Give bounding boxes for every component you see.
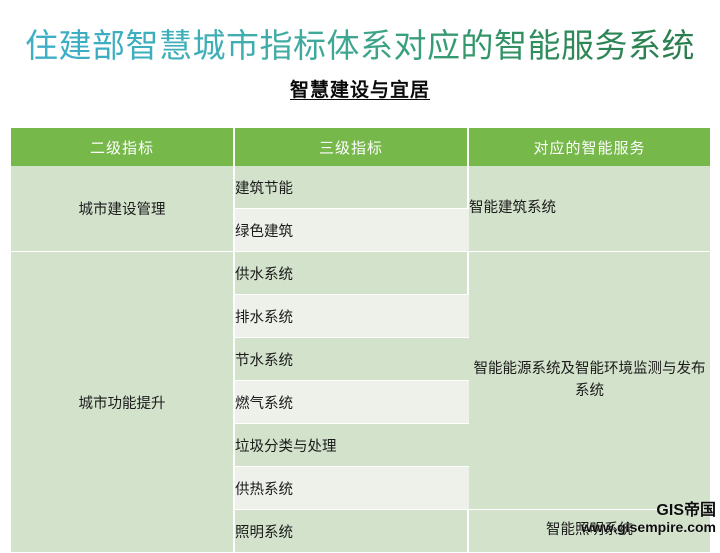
indicator-item-cell: 绿色建筑 bbox=[235, 209, 469, 252]
indicator-item-cell: 燃气系统 bbox=[235, 381, 469, 424]
table-row: 城市建设管理 建筑节能 智能建筑系统 bbox=[11, 166, 710, 209]
column-header-tertiary-indicator: 三级指标 bbox=[235, 128, 469, 166]
indicator-item-cell: 建筑节能 bbox=[235, 166, 469, 209]
table-body: 城市建设管理 建筑节能 智能建筑系统 绿色建筑 城市功能提升 供水系统 智能能源… bbox=[11, 166, 710, 553]
indicator-service-table: 二级指标 三级指标 对应的智能服务 城市建设管理 建筑节能 智能建筑系统 绿色建… bbox=[11, 128, 710, 553]
category-cell: 城市功能提升 bbox=[11, 252, 235, 553]
column-header-smart-service: 对应的智能服务 bbox=[469, 128, 710, 166]
indicator-item-cell: 排水系统 bbox=[235, 295, 469, 338]
page-title: 住建部智慧城市指标体系对应的智能服务系统 bbox=[25, 26, 695, 66]
category-cell: 城市建设管理 bbox=[11, 166, 235, 252]
title-block: 住建部智慧城市指标体系对应的智能服务系统 智慧建设与宜居 bbox=[0, 0, 720, 102]
service-cell: 智能能源系统及智能环境监测与发布系统 bbox=[469, 252, 710, 510]
indicator-item-cell: 照明系统 bbox=[235, 510, 469, 553]
indicator-item-cell: 节水系统 bbox=[235, 338, 469, 381]
indicator-item-cell: 供水系统 bbox=[235, 252, 469, 295]
service-cell: 智能照明系统 bbox=[469, 510, 710, 553]
service-cell: 智能建筑系统 bbox=[469, 166, 710, 252]
indicator-item-cell: 供热系统 bbox=[235, 467, 469, 510]
table-row: 城市功能提升 供水系统 智能能源系统及智能环境监测与发布系统 bbox=[11, 252, 710, 295]
column-header-secondary-indicator: 二级指标 bbox=[11, 128, 235, 166]
page-subtitle: 智慧建设与宜居 bbox=[290, 75, 430, 102]
table-header: 二级指标 三级指标 对应的智能服务 bbox=[11, 128, 710, 166]
table-header-row: 二级指标 三级指标 对应的智能服务 bbox=[11, 128, 710, 166]
indicator-item-cell: 垃圾分类与处理 bbox=[235, 424, 469, 467]
